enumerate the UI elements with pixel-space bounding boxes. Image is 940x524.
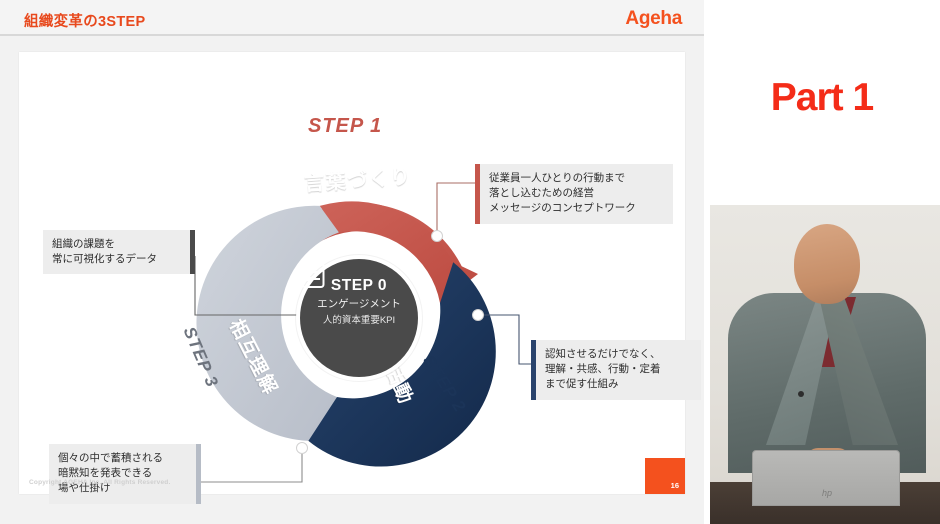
- part-heading: Part 1: [704, 76, 940, 120]
- ageha-logo: Ageha: [625, 8, 682, 30]
- callout-step2: 認知させるだけでなく、 理解・共感、行動・定着 まで促す仕組み: [531, 340, 701, 400]
- step1-outer-label: STEP 1: [308, 115, 382, 138]
- presenter-video-feed: hp: [710, 205, 940, 524]
- corner-wedge: [645, 458, 685, 494]
- hub-step-label: STEP 0: [331, 277, 387, 295]
- presenter-panel: Part 1 hp: [704, 0, 940, 524]
- laptop-brand-logo: hp: [753, 488, 901, 498]
- copyright-notice: Copyright AGEHA Inc. All Rights Reserved…: [29, 479, 170, 486]
- callout-step1: 従業員一人ひとりの行動まで 落とし込むための経営 メッセージのコンセプトワーク: [475, 164, 673, 224]
- presenter-head: [794, 224, 860, 304]
- slide-panel: 組織変革の3STEP Ageha: [0, 0, 704, 524]
- laptop: hp: [752, 450, 900, 506]
- presentation-screen: 組織変革の3STEP Ageha: [0, 0, 940, 524]
- lapel-microphone-icon: [798, 391, 804, 397]
- page-title: 組織変革の3STEP: [24, 10, 145, 31]
- hub-subtitle-1: エンゲージメント: [317, 296, 401, 311]
- slide-content-area: STEP 1 STEP 2 STEP 3 言葉づくり 浸透活動 相互理解: [19, 52, 685, 494]
- three-step-cycle-diagram: STEP 1 STEP 2 STEP 3 言葉づくり 浸透活動 相互理解: [19, 52, 685, 494]
- callout-kpi-data: 組織の課題を 常に可視化するデータ: [43, 230, 195, 274]
- hub-subtitle-2: 人的資本重要KPI: [323, 312, 395, 326]
- clipboard-checklist-icon: [300, 259, 326, 289]
- center-hub-step0: STEP 0 エンゲージメント 人的資本重要KPI: [296, 255, 422, 381]
- slide-header: 組織変革の3STEP Ageha: [0, 0, 704, 36]
- page-number-corner: 16: [645, 458, 685, 494]
- page-number: 16: [671, 481, 679, 490]
- callout-step3: 個々の中で蓄積される 暗黙知を発表できる 場や仕掛け: [49, 444, 201, 504]
